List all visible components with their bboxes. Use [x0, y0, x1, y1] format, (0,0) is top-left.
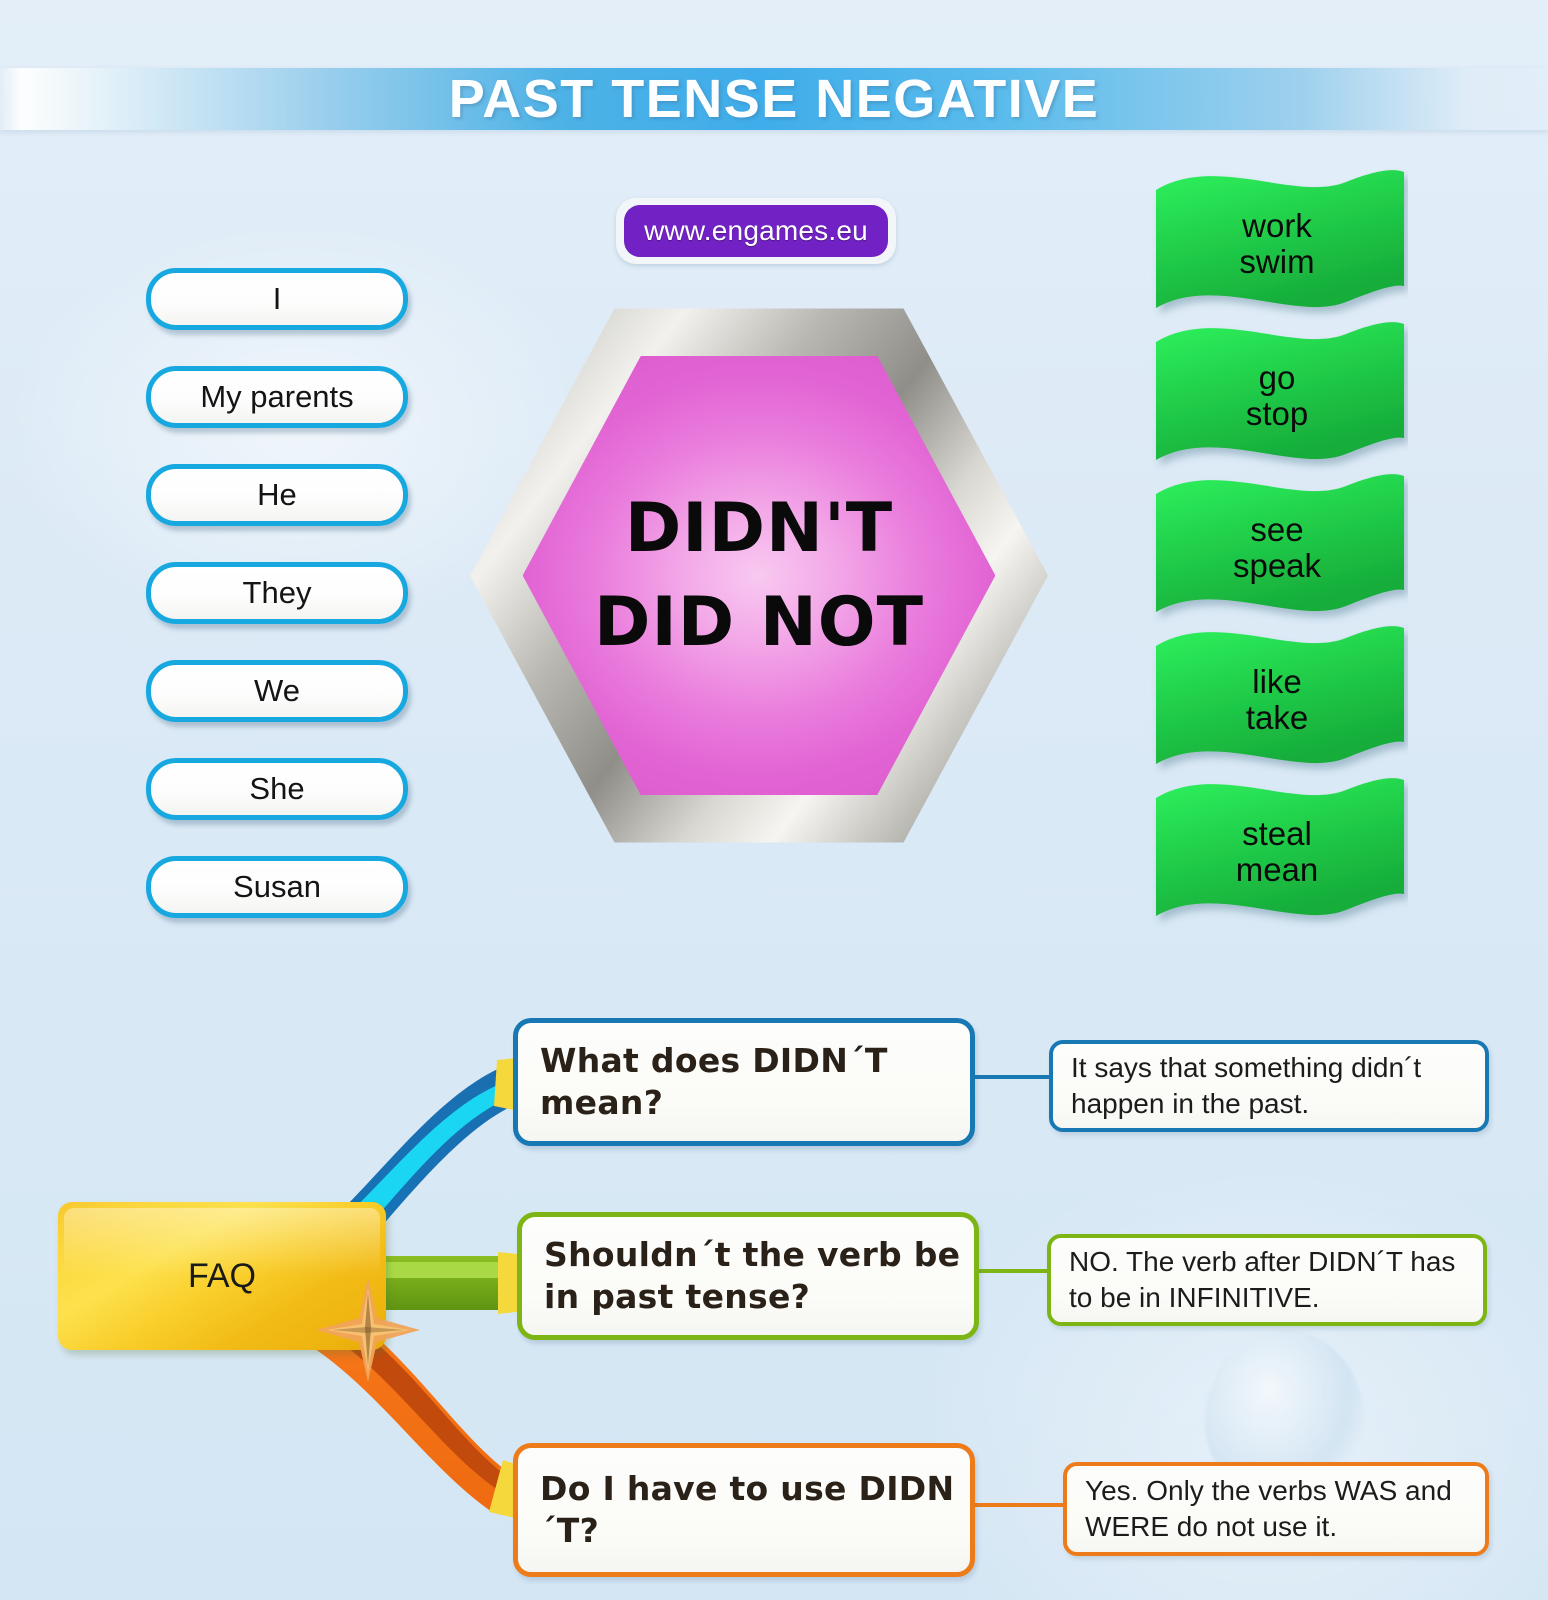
faq-question-text: What does DIDN´T mean? — [518, 1040, 970, 1124]
verb-flag[interactable]: go stop — [1146, 320, 1408, 472]
faq-answer-box[interactable]: Yes. Only the verbs WAS and WERE do not … — [1063, 1462, 1489, 1556]
verb-word: speak — [1233, 548, 1321, 584]
verb-flag-labels: work swim — [1146, 168, 1408, 320]
verb-flag-labels: steal mean — [1146, 776, 1408, 928]
subject-pill-label: My parents — [200, 379, 353, 415]
verb-word: swim — [1239, 244, 1314, 280]
hexagon-text-group: DIDN'T DID NOT — [470, 303, 1048, 848]
verb-flag[interactable]: steal mean — [1146, 776, 1408, 928]
subject-pill-label: Susan — [233, 869, 321, 905]
verb-word: mean — [1236, 852, 1319, 888]
subject-pill[interactable]: My parents — [146, 366, 408, 428]
subject-pill-label: He — [257, 477, 297, 513]
faq-answer-text: NO. The verb after DIDN´T has to be in I… — [1051, 1244, 1483, 1317]
subject-pill[interactable]: She — [146, 758, 408, 820]
faq-question-text: Do I have to use DIDN´T? — [518, 1468, 970, 1552]
verb-word: take — [1246, 700, 1308, 736]
verb-word: steal — [1242, 816, 1312, 852]
subject-pill-label: They — [243, 575, 312, 611]
faq-answer-text: Yes. Only the verbs WAS and WERE do not … — [1067, 1473, 1485, 1546]
verb-flag-labels: like take — [1146, 624, 1408, 776]
verb-word: stop — [1246, 396, 1308, 432]
faq-answer-box[interactable]: It says that something didn´t happen in … — [1049, 1040, 1489, 1132]
website-badge[interactable]: www.engames.eu — [616, 198, 896, 264]
central-hexagon: DIDN'T DID NOT — [470, 303, 1048, 848]
subject-pill-label: She — [249, 771, 304, 807]
verb-word: go — [1259, 360, 1296, 396]
faq-answer-box[interactable]: NO. The verb after DIDN´T has to be in I… — [1047, 1234, 1487, 1326]
verb-word: see — [1250, 512, 1303, 548]
verb-flag-list: work swim go stop — [1146, 168, 1408, 928]
faq-hub-label: FAQ — [188, 1257, 256, 1296]
subject-pill-label: I — [273, 281, 282, 317]
subject-pill-list: I My parents He They We She Susan — [146, 268, 408, 954]
hexagon-line-1: DIDN'T — [625, 495, 893, 563]
faq-question-text: Shouldn´t the verb be in past tense? — [522, 1234, 974, 1318]
subject-pill[interactable]: We — [146, 660, 408, 722]
website-url-label: www.engames.eu — [624, 205, 888, 257]
subject-pill[interactable]: I — [146, 268, 408, 330]
verb-flag-labels: see speak — [1146, 472, 1408, 624]
verb-flag[interactable]: see speak — [1146, 472, 1408, 624]
infographic-canvas: PAST TENSE NEGATIVE I My parents He They… — [0, 0, 1548, 1600]
faq-answer-text: It says that something didn´t happen in … — [1053, 1050, 1485, 1123]
hexagon-line-2: DID NOT — [594, 589, 924, 657]
verb-word: work — [1242, 208, 1312, 244]
verb-flag[interactable]: like take — [1146, 624, 1408, 776]
verb-word: like — [1252, 664, 1302, 700]
faq-question-box[interactable]: Shouldn´t the verb be in past tense? — [517, 1212, 979, 1340]
subject-pill[interactable]: He — [146, 464, 408, 526]
page-title: PAST TENSE NEGATIVE — [0, 64, 1548, 134]
starburst-icon — [316, 1278, 420, 1382]
subject-pill[interactable]: They — [146, 562, 408, 624]
subject-pill[interactable]: Susan — [146, 856, 408, 918]
faq-question-box[interactable]: What does DIDN´T mean? — [513, 1018, 975, 1146]
verb-flag-labels: go stop — [1146, 320, 1408, 472]
faq-question-box[interactable]: Do I have to use DIDN´T? — [513, 1443, 975, 1577]
verb-flag[interactable]: work swim — [1146, 168, 1408, 320]
subject-pill-label: We — [254, 673, 300, 709]
